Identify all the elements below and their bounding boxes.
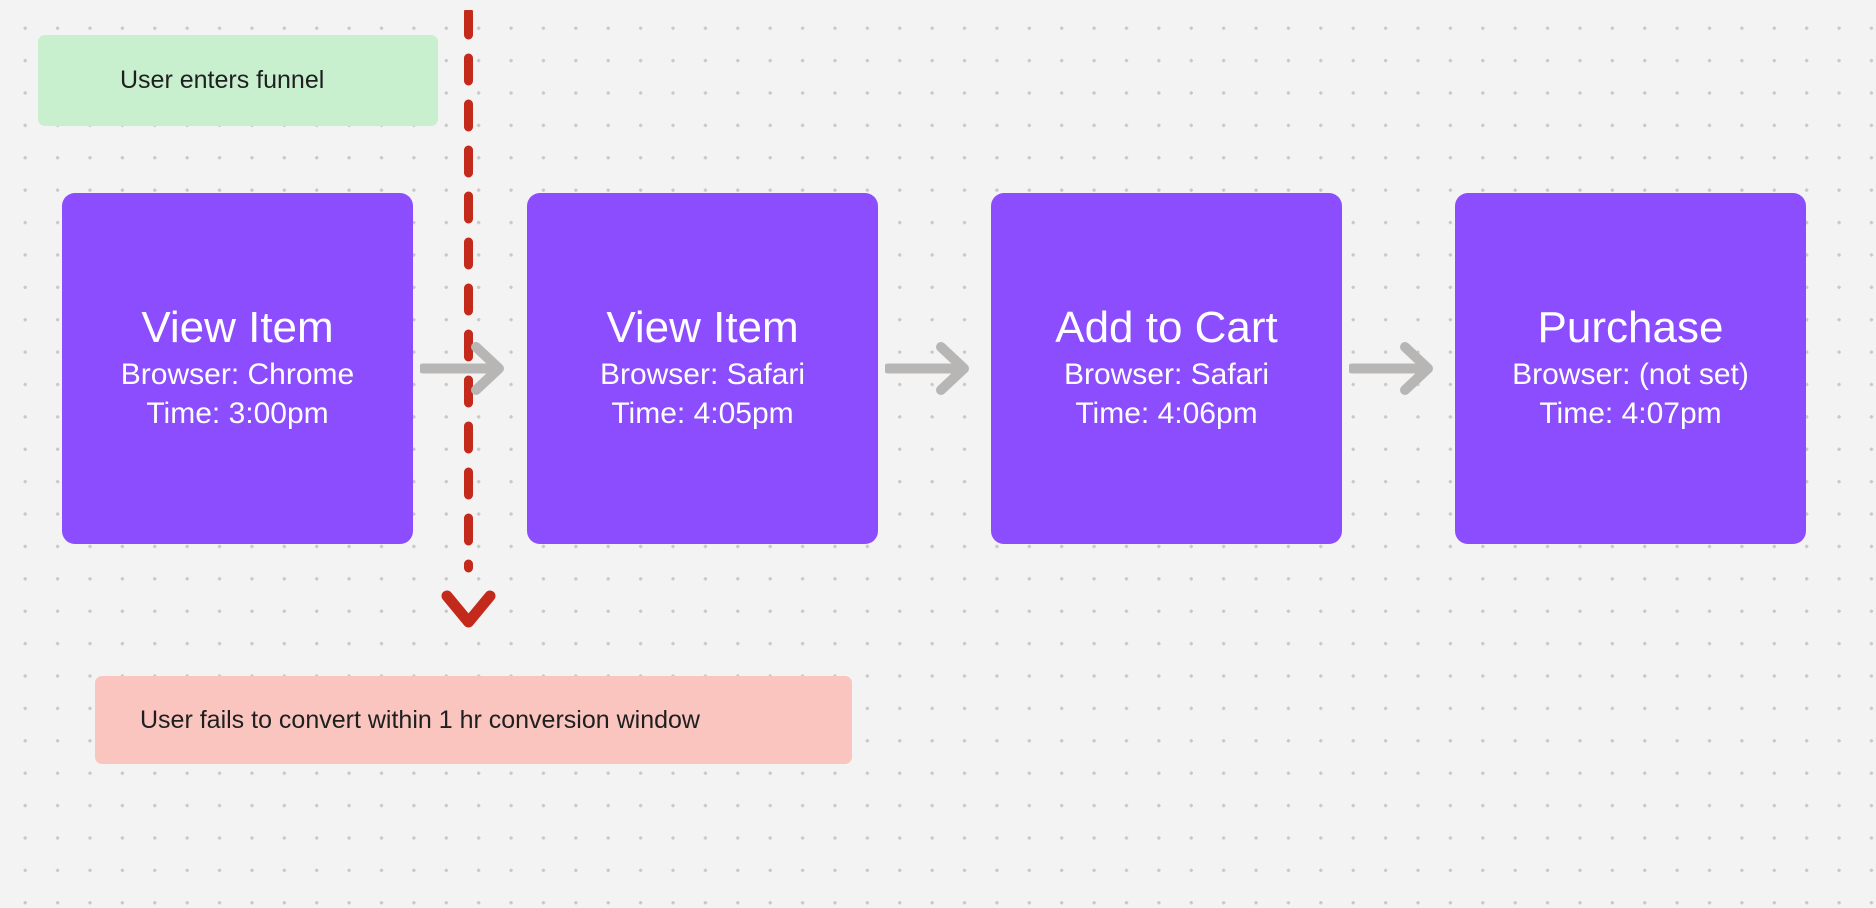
step-time: Time: 4:05pm (611, 394, 793, 434)
step-browser: Browser: (not set) (1512, 355, 1749, 395)
step-browser: Browser: Safari (600, 355, 805, 395)
arrow-right-icon (885, 340, 970, 397)
step-browser: Browser: Chrome (121, 355, 354, 395)
step-title: View Item (141, 303, 333, 352)
funnel-step-card[interactable]: View Item Browser: Safari Time: 4:05pm (527, 193, 878, 544)
step-time: Time: 4:06pm (1075, 394, 1257, 434)
funnel-step-card[interactable]: Add to Cart Browser: Safari Time: 4:06pm (991, 193, 1342, 544)
arrow-down-icon (447, 596, 490, 622)
dropoff-cutoff-line (441, 10, 496, 650)
funnel-step-card[interactable]: View Item Browser: Chrome Time: 3:00pm (62, 193, 413, 544)
note-user-enters-funnel: User enters funnel (38, 35, 438, 126)
step-title: Add to Cart (1055, 303, 1278, 352)
step-title: Purchase (1538, 303, 1724, 352)
note-enter-label: User enters funnel (120, 66, 324, 95)
note-fail-label: User fails to convert within 1 hr conver… (140, 706, 700, 735)
arrow-right-icon (420, 340, 505, 397)
step-title: View Item (606, 303, 798, 352)
arrow-right-icon (1349, 340, 1434, 397)
step-time: Time: 4:07pm (1539, 394, 1721, 434)
funnel-diagram-canvas: User enters funnel View Item Browser: Ch… (0, 0, 1876, 908)
funnel-step-card[interactable]: Purchase Browser: (not set) Time: 4:07pm (1455, 193, 1806, 544)
step-browser: Browser: Safari (1064, 355, 1269, 395)
note-conversion-window-miss: User fails to convert within 1 hr conver… (95, 676, 852, 764)
step-time: Time: 3:00pm (146, 394, 328, 434)
